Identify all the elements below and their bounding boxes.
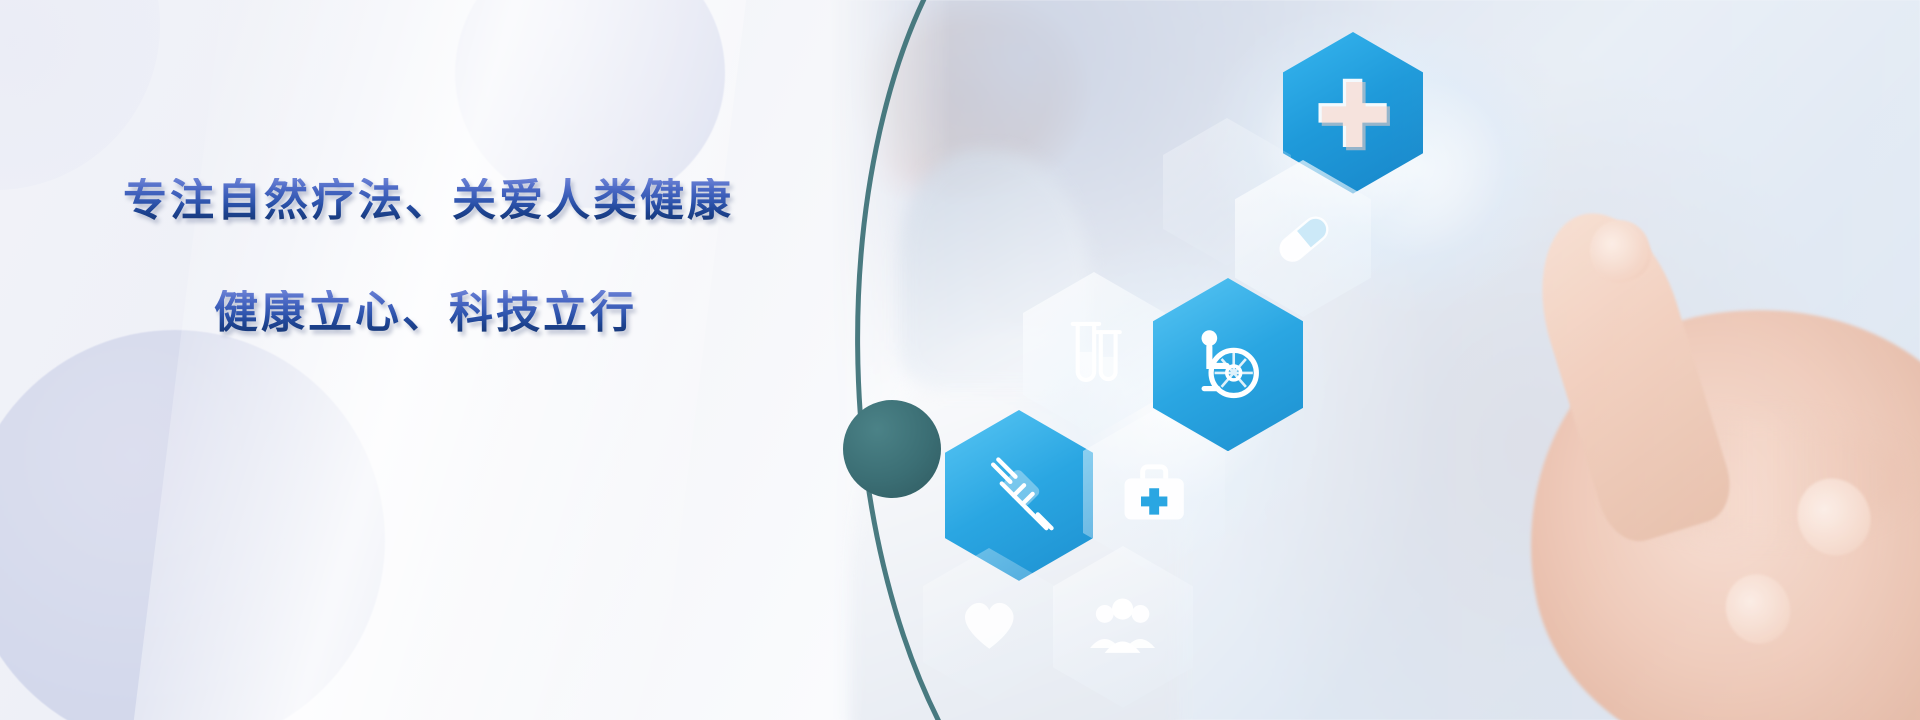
headline-line-2: 健康立心、科技立行 <box>0 290 845 336</box>
decor-circle-top-left <box>0 0 160 190</box>
wheelchair-icon <box>1185 314 1272 414</box>
teal-arc-divider <box>770 0 1100 720</box>
pill-capsule-icon <box>1264 193 1343 284</box>
teal-accent-dot <box>843 400 941 498</box>
medical-bag-icon <box>1113 444 1195 539</box>
decor-circle-bottom-left <box>0 330 385 720</box>
hero-banner: 专注自然疗法、关爱人类健康 健康立心、科技立行 <box>0 0 1920 720</box>
headline-line-1: 专注自然疗法、关爱人类健康 <box>0 178 845 224</box>
headline-block: 专注自然疗法、关爱人类健康 健康立心、科技立行 <box>0 178 845 336</box>
medical-cross-icon <box>1312 66 1393 160</box>
